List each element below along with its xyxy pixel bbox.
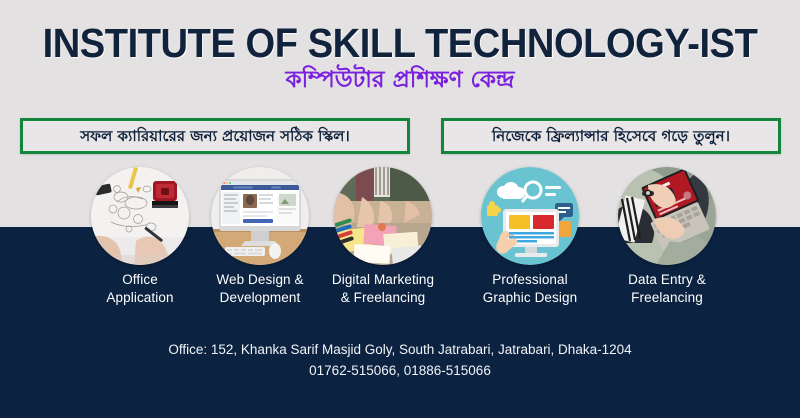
imac-desktop-photo — [211, 167, 309, 265]
service-item-graphic-design: Professional Graphic Design — [481, 167, 579, 265]
service-label: Digital Marketing & Freelancing — [312, 271, 454, 307]
service-label: Professional Graphic Design — [459, 271, 601, 307]
service-label: Web Design & Development — [189, 271, 331, 307]
service-label: Data Entry & Freelancing — [596, 271, 738, 307]
graphic-design-illustration — [481, 167, 579, 265]
service-label-line2: Freelancing — [596, 289, 738, 307]
slogan-box-right: নিজেকে ফ্রিল্যান্সার হিসেবে গড়ে তুলুন। — [441, 118, 781, 154]
desk-sketches-photo — [91, 167, 189, 265]
service-label-line1: Digital Marketing — [312, 271, 454, 289]
slogan-right-text: নিজেকে ফ্রিল্যান্সার হিসেবে গড়ে তুলুন। — [492, 129, 730, 144]
slogan-box-left: সফল ক্যারিয়ারের জন্য প্রয়োজন সঠিক স্কি… — [20, 118, 410, 154]
service-item-digital-marketing: Digital Marketing & Freelancing — [334, 167, 432, 265]
institute-banner: INSTITUTE OF SKILL TECHNOLOGY-IST কম্পিউ… — [0, 0, 800, 418]
service-label-line1: Data Entry & — [596, 271, 738, 289]
footer-phones: 01762-515066, 01886-515066 — [0, 361, 800, 382]
subtitle-bengali: কম্পিউটার প্রশিক্ষণ কেন্দ্র — [0, 66, 800, 95]
service-label-line2: Development — [189, 289, 331, 307]
footer-address: Office: 152, Khanka Sarif Masjid Goly, S… — [0, 340, 800, 361]
service-item-office-application: Office Application — [91, 167, 189, 265]
service-item-web-design: Web Design & Development — [211, 167, 309, 265]
slogan-left-text: সফল ক্যারিয়ারের জন্য প্রয়োজন সঠিক স্কি… — [80, 129, 349, 144]
service-item-data-entry: Data Entry & Freelancing — [618, 167, 716, 265]
service-label-line2: & Freelancing — [312, 289, 454, 307]
team-papers-markers-photo — [334, 167, 432, 265]
page-title: INSTITUTE OF SKILL TECHNOLOGY-IST — [28, 22, 772, 65]
service-label-line1: Professional — [459, 271, 601, 289]
footer-contact: Office: 152, Khanka Sarif Masjid Goly, S… — [0, 340, 800, 382]
service-label-line1: Web Design & — [189, 271, 331, 289]
service-label-line2: Graphic Design — [459, 289, 601, 307]
person-typing-laptop-photo — [618, 167, 716, 265]
